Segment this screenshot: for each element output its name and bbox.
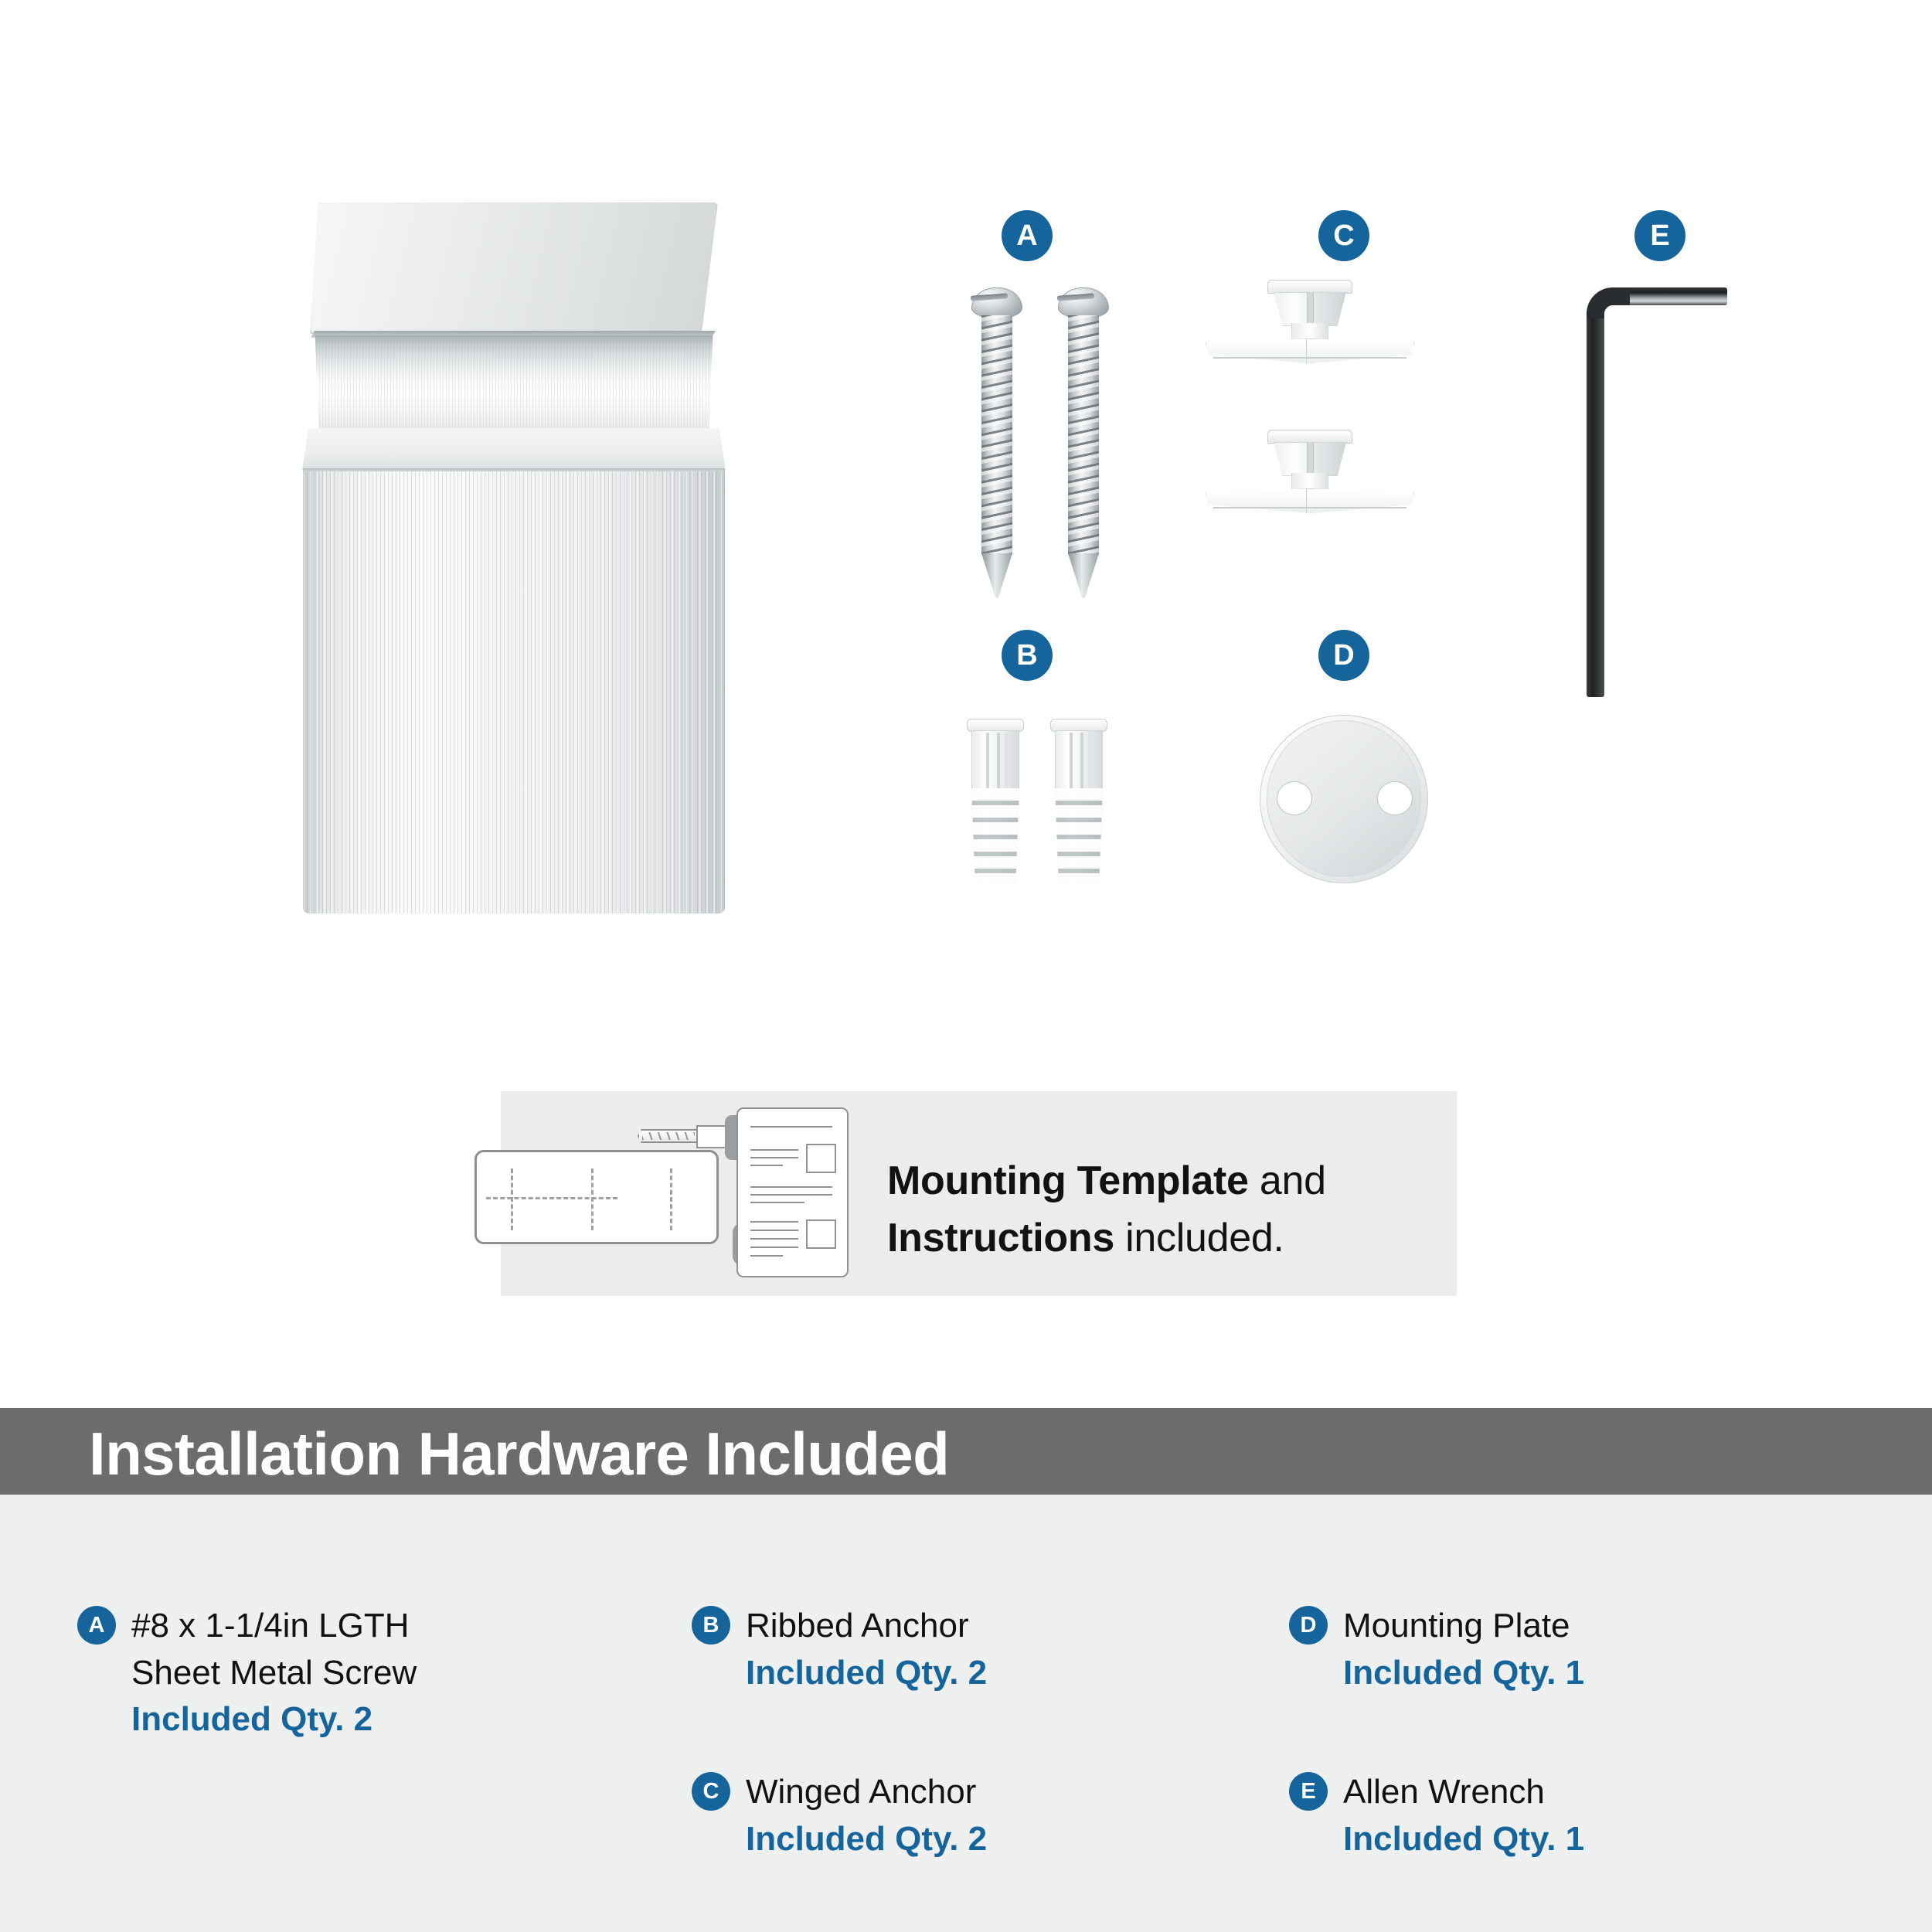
screw-tip: [1068, 553, 1099, 598]
screw-threads: [981, 315, 1012, 555]
hardware-label-line1: #8 x 1-1/4in LGTH: [131, 1603, 417, 1650]
product-neck: [313, 335, 715, 432]
hardware-badge-d: D: [1289, 1606, 1328, 1645]
mounting-plate-hole-right: [1377, 781, 1413, 815]
winged-anchor-icon: [1206, 280, 1414, 384]
sheet-line: [750, 1255, 783, 1257]
sheet-line: [750, 1194, 832, 1196]
hardware-label-line1: Allen Wrench: [1343, 1769, 1584, 1816]
sheet-line: [750, 1202, 804, 1203]
hardware-label-line1: Mounting Plate: [1343, 1603, 1584, 1650]
banner-plain-1: and: [1249, 1158, 1326, 1203]
ribbed-anchor-icon: [970, 719, 1021, 885]
ribbed-anchor-upper: [971, 730, 1019, 791]
drill-bit-icon: [638, 1129, 699, 1143]
ribbed-anchor-ribs: [1055, 788, 1103, 884]
sheet-figure-box: [806, 1144, 836, 1173]
hardware-badge-e: E: [1289, 1772, 1328, 1811]
screw-shank: [1068, 315, 1099, 555]
sheet-line: [750, 1230, 798, 1231]
winged-anchor-icon: [1206, 430, 1414, 534]
hardware-label-line1: Ribbed Anchor: [746, 1603, 987, 1650]
template-crosshair-line: [511, 1168, 513, 1230]
mounting-plate-icon: [1260, 715, 1428, 883]
winged-anchor-wing-right: [1306, 488, 1414, 522]
mounting-template-banner: Mounting Template and Instructions inclu…: [501, 1091, 1457, 1296]
winged-anchor-wing-left: [1206, 488, 1314, 522]
sheet-line: [750, 1221, 798, 1223]
hardware-qty: Included Qty. 1: [1343, 1816, 1584, 1863]
hardware-qty: Included Qty. 1: [1343, 1650, 1584, 1697]
hardware-qty: Included Qty. 2: [746, 1650, 987, 1697]
banner-strong-1: Mounting Template: [887, 1158, 1249, 1203]
product-shelf: [302, 428, 726, 470]
banner-strong-2: Instructions: [887, 1216, 1114, 1260]
callout-badge-d: D: [1318, 630, 1369, 681]
hardware-badge-b: B: [692, 1606, 730, 1645]
mounting-plate-hole-left: [1277, 781, 1312, 815]
hardware-badge-a: A: [77, 1606, 116, 1645]
installation-hardware-infographic: A C E: [0, 0, 1932, 1932]
callout-badge-c: C: [1318, 210, 1369, 261]
mounting-template-icon: [474, 1150, 719, 1244]
screw-tip: [981, 553, 1012, 598]
sheet-line: [750, 1186, 832, 1188]
screw-slot: [971, 293, 1008, 301]
template-crosshair-line: [670, 1168, 672, 1230]
screw-shank: [981, 315, 1012, 555]
sheet-figure-box: [806, 1219, 836, 1249]
sheet-line: [750, 1238, 798, 1240]
callout-badge-a: A: [1002, 210, 1053, 261]
winged-anchor-wing-right: [1306, 338, 1414, 372]
page-title: Installation Hardware Included: [89, 1419, 949, 1489]
instruction-sheet-icon: [736, 1107, 849, 1277]
screw-slot: [1057, 293, 1094, 301]
allen-wrench-short-arm: [1613, 287, 1727, 305]
sheet-line: [750, 1126, 832, 1128]
ribbed-anchor-icon: [1053, 719, 1104, 885]
hardware-badge-c: C: [692, 1772, 730, 1811]
hardware-list-panel: A #8 x 1-1/4in LGTH Sheet Metal Screw In…: [0, 1495, 1932, 1932]
screw-head: [1058, 287, 1109, 318]
winged-anchor-wing-left: [1206, 338, 1314, 372]
template-center-line: [486, 1197, 617, 1199]
winged-anchor-seam: [1213, 507, 1406, 509]
screw-threads: [1068, 315, 1099, 555]
winged-anchor-seam: [1213, 357, 1406, 359]
ribbed-anchor-ribs: [971, 788, 1019, 884]
hardware-label-line2: Sheet Metal Screw: [131, 1650, 417, 1697]
sheet-line: [750, 1165, 783, 1166]
product-base-block: [303, 471, 725, 913]
callout-badge-e: E: [1634, 210, 1685, 261]
product-image-robe-hook: [296, 202, 733, 917]
product-top-face: [310, 202, 718, 334]
sheet-line: [750, 1149, 798, 1151]
hardware-qty: Included Qty. 2: [746, 1816, 987, 1863]
banner-plain-2: included.: [1114, 1216, 1284, 1260]
template-crosshair-line: [591, 1168, 594, 1230]
banner-text: Mounting Template and Instructions inclu…: [887, 1153, 1428, 1267]
drill-chuck-icon: [696, 1125, 727, 1148]
allen-wrench-long-arm: [1587, 318, 1604, 697]
sheet-line: [750, 1247, 798, 1248]
screw-head: [971, 287, 1022, 318]
ribbed-anchor-upper: [1055, 730, 1103, 791]
sheet-line: [750, 1157, 798, 1158]
hardware-qty: Included Qty. 2: [131, 1696, 417, 1743]
hardware-label-line1: Winged Anchor: [746, 1769, 987, 1816]
callout-badge-b: B: [1002, 630, 1053, 681]
